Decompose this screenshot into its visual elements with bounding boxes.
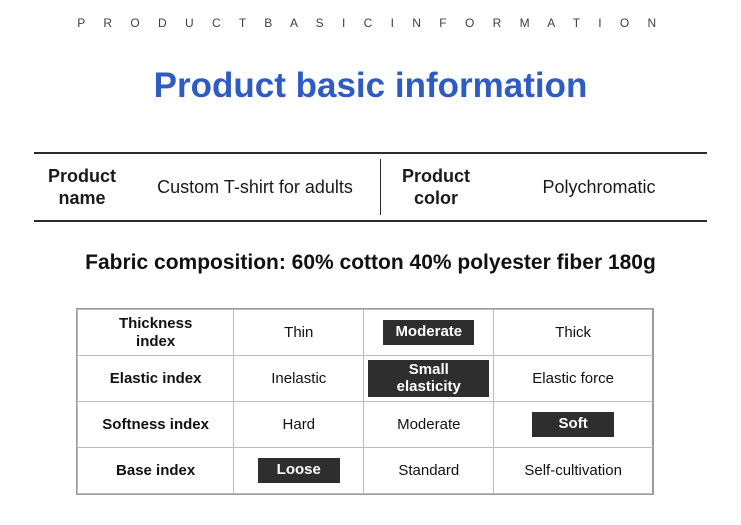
option-self-cultivation[interactable]: Self-cultivation xyxy=(524,462,622,479)
option-cell[interactable]: Elastic force xyxy=(494,356,653,402)
product-name-label: Product name xyxy=(48,165,116,210)
option-inelastic[interactable]: Inelastic xyxy=(271,370,326,387)
row-label-thickness: Thickness index xyxy=(78,310,234,356)
row-label-base: Base index xyxy=(78,448,234,494)
option-cell[interactable]: Thin xyxy=(234,310,364,356)
table-row: Base index Loose Standard Self-cultivati… xyxy=(78,448,653,494)
option-cell-selected[interactable]: Soft xyxy=(494,402,653,448)
option-hard[interactable]: Hard xyxy=(283,416,316,433)
table-row: Thickness index Thin Moderate Thick xyxy=(78,310,653,356)
fabric-composition-text: Fabric composition: 60% cotton 40% polye… xyxy=(0,251,741,275)
option-moderate[interactable]: Moderate xyxy=(397,416,460,433)
index-table-grid: Thickness index Thin Moderate Thick xyxy=(77,309,653,494)
option-thin[interactable]: Thin xyxy=(284,324,313,341)
product-color-label: Product color xyxy=(402,165,470,210)
option-loose-selected[interactable]: Loose xyxy=(258,458,340,483)
option-cell-selected[interactable]: Moderate xyxy=(364,310,494,356)
product-color-value: Polychromatic xyxy=(542,177,655,198)
option-elastic-force[interactable]: Elastic force xyxy=(532,370,614,387)
row-label-line1: Thickness xyxy=(119,315,192,332)
page-title: Product basic information xyxy=(0,66,741,106)
product-color-value-cell: Polychromatic xyxy=(491,154,707,220)
row-label-softness: Softness index xyxy=(78,402,234,448)
option-soft-selected[interactable]: Soft xyxy=(532,412,614,437)
product-name-label-line2: name xyxy=(58,188,105,208)
product-info-row: Product name Custom T-shirt for adults P… xyxy=(34,154,707,220)
option-cell[interactable]: Moderate xyxy=(364,402,494,448)
option-small-elasticity-selected[interactable]: Small elasticity xyxy=(368,360,489,398)
option-cell[interactable]: Thick xyxy=(494,310,653,356)
product-name-value: Custom T-shirt for adults xyxy=(157,177,353,198)
product-color-label-cell: Product color xyxy=(381,154,491,220)
index-table: Thickness index Thin Moderate Thick xyxy=(76,308,654,495)
eyebrow-title: P R O D U C T B A S I C I N F O R M A T … xyxy=(0,16,741,30)
option-cell[interactable]: Hard xyxy=(234,402,364,448)
option-standard[interactable]: Standard xyxy=(398,462,459,479)
option-cell-selected[interactable]: Loose xyxy=(234,448,364,494)
product-name-label-line1: Product xyxy=(48,166,116,186)
option-cell[interactable]: Inelastic xyxy=(234,356,364,402)
option-moderate-selected[interactable]: Moderate xyxy=(383,320,474,345)
row-label-line1: Base index xyxy=(116,462,195,479)
product-name-value-cell: Custom T-shirt for adults xyxy=(130,154,380,220)
option-thick[interactable]: Thick xyxy=(555,324,591,341)
option-cell[interactable]: Standard xyxy=(364,448,494,494)
table-row: Elastic index Inelastic Small elasticity… xyxy=(78,356,653,402)
option-cell[interactable]: Self-cultivation xyxy=(494,448,653,494)
product-color-label-line2: color xyxy=(414,188,458,208)
option-cell-selected[interactable]: Small elasticity xyxy=(364,356,494,402)
table-row: Softness index Hard Moderate Soft xyxy=(78,402,653,448)
product-info-table: Product name Custom T-shirt for adults P… xyxy=(34,152,707,222)
row-label-line1: Elastic index xyxy=(110,370,202,387)
row-label-line2: index xyxy=(136,333,175,350)
product-name-label-cell: Product name xyxy=(34,154,130,220)
row-label-line1: Softness index xyxy=(102,416,209,433)
row-label-elastic: Elastic index xyxy=(78,356,234,402)
index-table-body: Thickness index Thin Moderate Thick xyxy=(78,310,653,494)
product-color-label-line1: Product xyxy=(402,166,470,186)
product-info-page: P R O D U C T B A S I C I N F O R M A T … xyxy=(0,0,741,525)
